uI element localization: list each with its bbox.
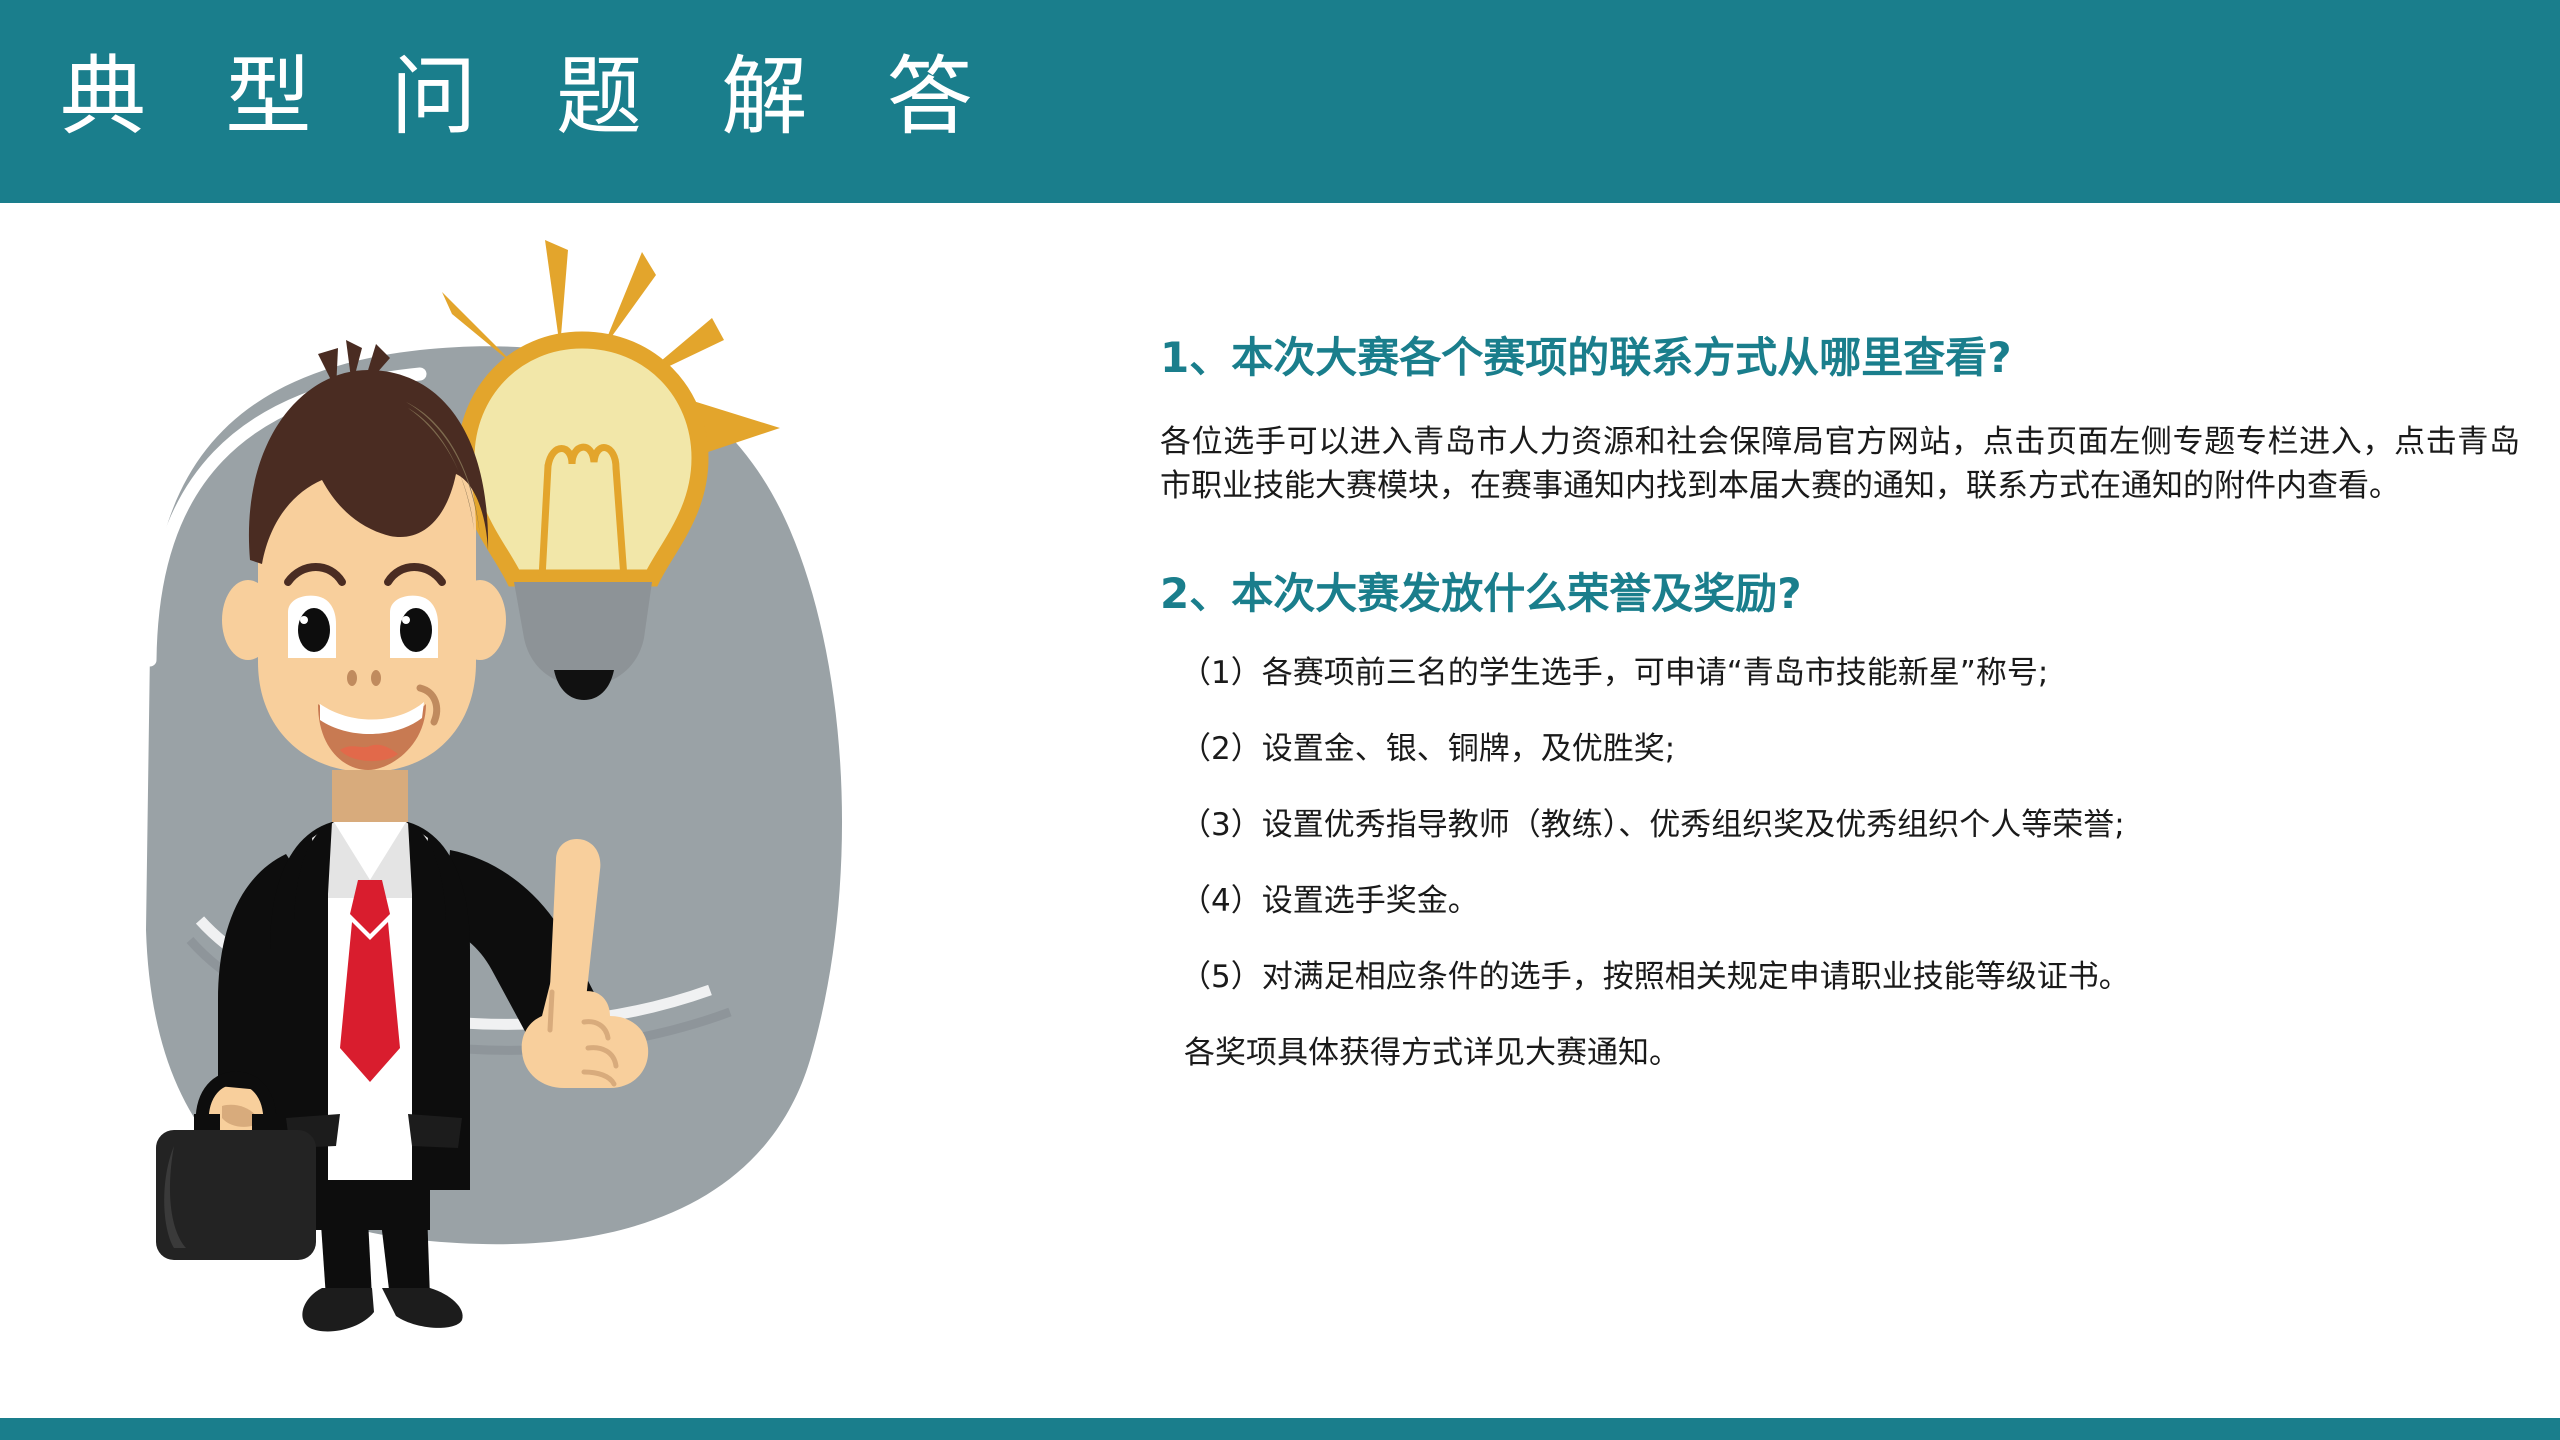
page-title: 典 型 问 题 解 答	[60, 22, 999, 172]
list-item: （3）设置优秀指导教师（教练）、优秀组织奖及优秀组织个人等荣誉;	[1160, 804, 2520, 846]
slide-root: 典 型 问 题 解 答	[0, 0, 2560, 1440]
award-list: （1）各赛项前三名的学生选手，可申请“青岛市技能新星”称号; （2）设置金、银、…	[1160, 652, 2520, 998]
question-2-heading: 2、本次大赛发放什么荣誉及奖励?	[1160, 566, 2520, 622]
illustration-businessman-idea	[90, 230, 970, 1380]
list-item: （2）设置金、银、铜牌，及优胜奖;	[1160, 728, 2520, 770]
faq-content: 1、本次大赛各个赛项的联系方式从哪里查看? 各位选手可以进入青岛市人力资源和社会…	[1160, 330, 2520, 1074]
header-bar: 典 型 问 题 解 答	[0, 0, 2560, 203]
question-1-answer: 各位选手可以进入青岛市人力资源和社会保障局官方网站，点击页面左侧专题专栏进入，点…	[1160, 420, 2520, 508]
list-item: （4）设置选手奖金。	[1160, 880, 2520, 922]
closing-note: 各奖项具体获得方式详见大赛通知。	[1160, 1032, 2520, 1074]
list-item: （1）各赛项前三名的学生选手，可申请“青岛市技能新星”称号;	[1160, 652, 2520, 694]
question-1-heading: 1、本次大赛各个赛项的联系方式从哪里查看?	[1160, 330, 2520, 386]
list-item: （5）对满足相应条件的选手，按照相关规定申请职业技能等级证书。	[1160, 956, 2520, 998]
footer-bar	[0, 1418, 2560, 1440]
